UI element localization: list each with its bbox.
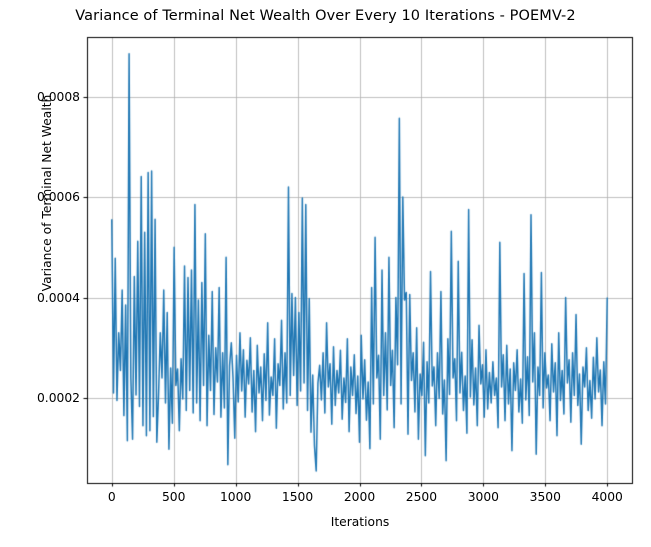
x-tick-label: 1000: [220, 490, 251, 504]
x-tick-label: 3500: [530, 490, 561, 504]
y-tick-label: 0.0006: [0, 190, 80, 204]
x-tick-label: 0: [108, 490, 116, 504]
y-tick-label: 0.0004: [0, 291, 80, 305]
chart-figure: Variance of Terminal Net Wealth Over Eve…: [0, 0, 651, 547]
x-tick-label: 2000: [344, 490, 375, 504]
x-tick-label: 2500: [406, 490, 437, 504]
x-axis-label: Iterations: [87, 515, 633, 529]
x-tick-label: 1500: [282, 490, 313, 504]
x-tick-label: 500: [162, 490, 185, 504]
plot-area: [0, 0, 651, 547]
x-tick-label: 3000: [468, 490, 499, 504]
y-tick-label: 0.0002: [0, 391, 80, 405]
y-tick-label: 0.0008: [0, 90, 80, 104]
x-tick-label: 4000: [592, 490, 623, 504]
